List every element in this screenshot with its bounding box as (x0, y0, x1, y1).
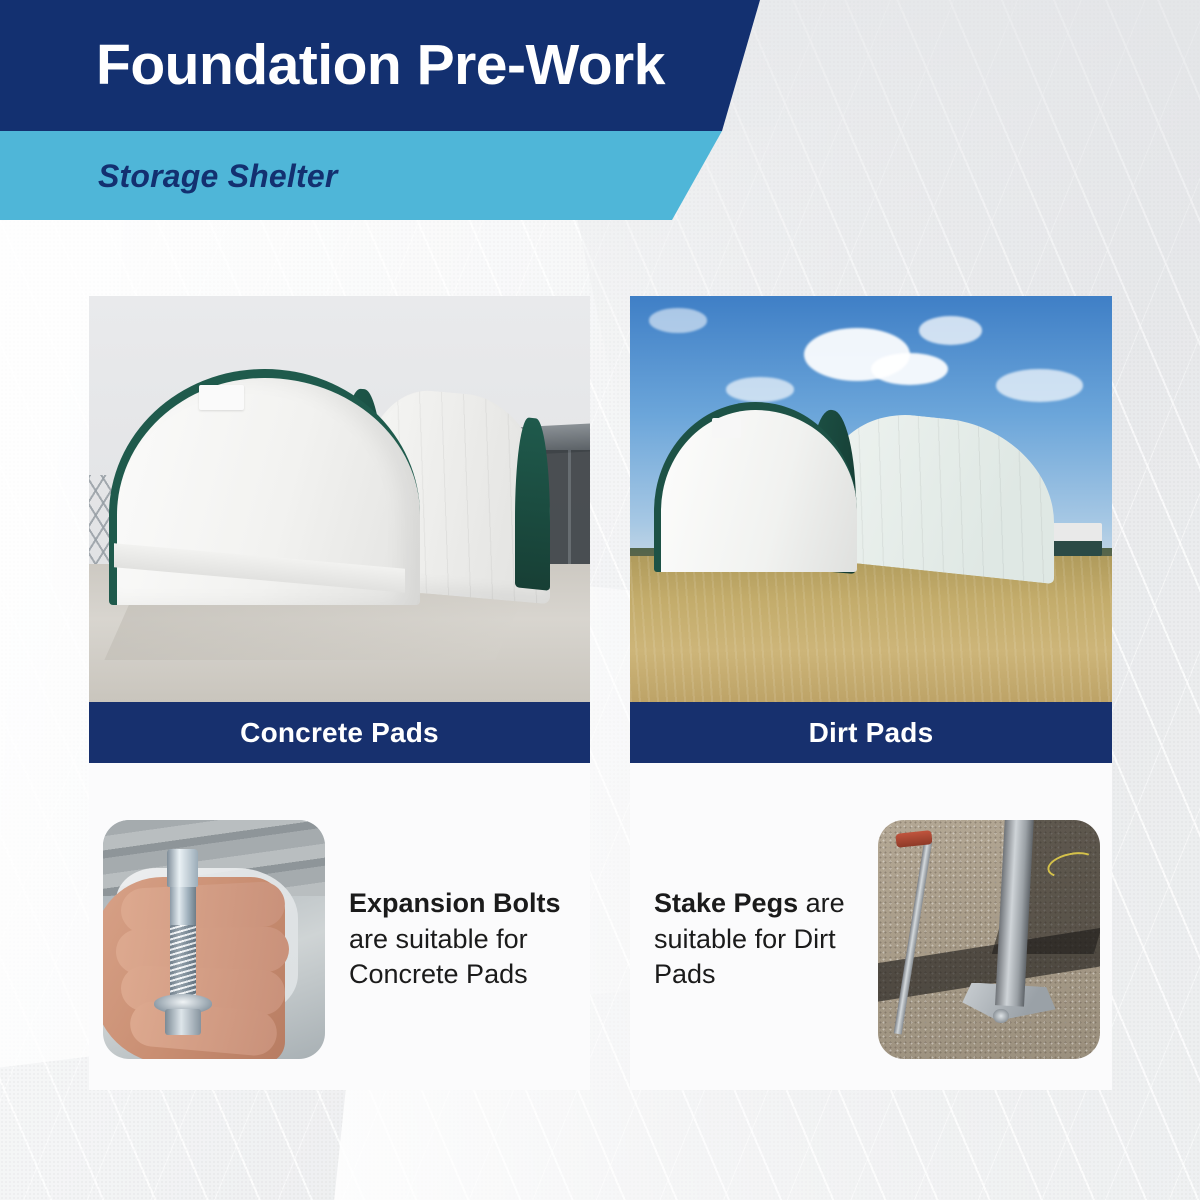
cloud-shape (649, 308, 707, 332)
anchor-bolt-shape (993, 1009, 1009, 1023)
info-text-concrete: Expansion Bolts are suitable for Concret… (343, 886, 576, 994)
infographic-page: Foundation Pre-Work Storage Shelter Conc… (0, 0, 1200, 1200)
thumbnail-stake-peg (878, 820, 1100, 1059)
cloud-shape (726, 377, 793, 401)
info-row-concrete: Expansion Bolts are suitable for Concret… (89, 763, 590, 1090)
thumbnail-expansion-bolt (103, 820, 325, 1059)
photo-label-concrete: Concrete Pads (89, 702, 590, 763)
shelter-far-rib-shape (1035, 440, 1064, 565)
page-subtitle: Storage Shelter (98, 160, 338, 192)
subtitle-band: Storage Shelter (0, 131, 760, 220)
info-bold-dirt: Stake Pegs (654, 888, 798, 918)
stake-peg-shaft-shape (894, 840, 932, 1035)
photo-label-dirt-text: Dirt Pads (809, 717, 934, 749)
page-header: Foundation Pre-Work Storage Shelter (0, 0, 1200, 232)
cloud-shape (871, 353, 948, 385)
cloud-shape (919, 316, 982, 344)
info-text-dirt: Stake Pegs are suitable for Dirt Pads (644, 886, 860, 994)
shelter-far-rib-shape (515, 416, 550, 590)
shelter-vent-shape (712, 418, 741, 438)
page-title: Foundation Pre-Work (96, 37, 665, 94)
cloud-shape (996, 369, 1083, 401)
photo-shelter-dirt (630, 296, 1112, 702)
column-concrete: Concrete Pads Expansion Bolts are suitab… (89, 296, 590, 1090)
column-dirt: Dirt Pads Stake Pegs are suitable for Di… (630, 296, 1112, 1090)
photo-label-dirt: Dirt Pads (630, 702, 1112, 763)
photo-label-concrete-text: Concrete Pads (240, 717, 439, 749)
shelter-pole-shape (995, 820, 1034, 1007)
title-band: Foundation Pre-Work (0, 0, 760, 131)
shelter-vent-shape (199, 385, 244, 409)
bolt-sleeve-shape (167, 849, 198, 887)
info-rest-concrete: are suitable for Concrete Pads (349, 924, 528, 990)
info-bold-concrete: Expansion Bolts (349, 888, 561, 918)
info-row-dirt: Stake Pegs are suitable for Dirt Pads (630, 763, 1112, 1090)
bolt-nut-shape (165, 1009, 201, 1035)
photo-shelter-concrete (89, 296, 590, 702)
